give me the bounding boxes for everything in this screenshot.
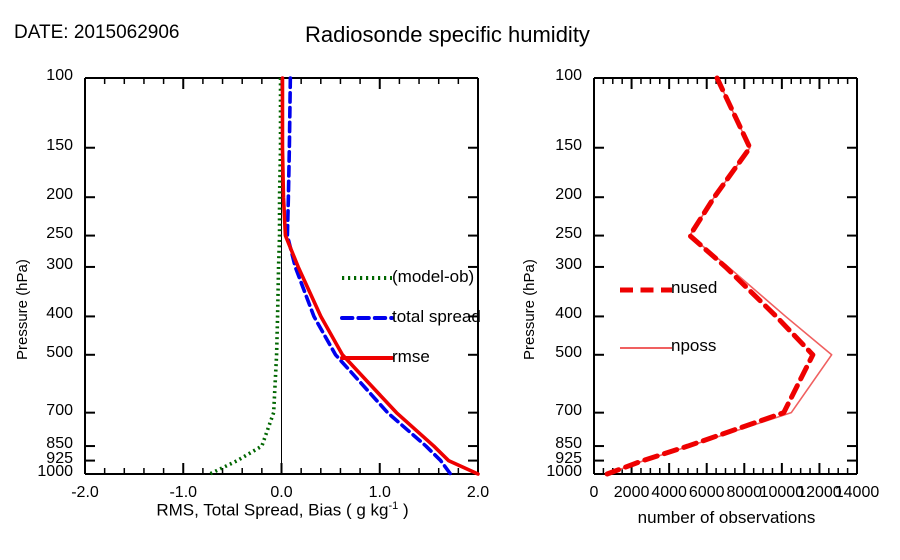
ytick-label: 300 [555,256,582,274]
ytick-label: 250 [46,225,73,243]
xtick-label: -1.0 [169,484,197,502]
legend-label: rmse [392,347,430,367]
xtick-label: 4000 [651,484,687,502]
page-title: Radiosonde specific humidity [0,22,900,48]
ytick-label: 150 [46,137,73,155]
legend-label: nposs [671,336,716,356]
legend-label: nused [671,278,717,298]
ytick-label: 400 [555,305,582,323]
series-nposs [608,78,832,474]
ytick-label: 100 [46,67,73,85]
ytick-label: 700 [46,402,73,420]
right-panel-ylabel: Pressure (hPa) [521,259,538,360]
series--model-ob- [210,78,281,474]
xtick-label: 14000 [835,484,880,502]
ytick-label: 200 [555,186,582,204]
series-nused [607,78,813,474]
ytick-label: 300 [46,256,73,274]
left-panel-xlabel: RMS, Total Spread, Bias ( g kg-1 ) [85,500,480,521]
xtick-label: 2000 [614,484,650,502]
right-panel-xlabel: number of observations [595,508,858,528]
xtick-label: 2.0 [467,484,489,502]
left-panel-ylabel: Pressure (hPa) [14,259,31,360]
ytick-label: 400 [46,305,73,323]
ytick-label: 500 [46,344,73,362]
legend-label: (model-ob) [392,267,474,287]
xtick-label: -2.0 [71,484,99,502]
ytick-label: 100 [555,67,582,85]
xtick-label: 0 [590,484,599,502]
left-xlabel-post: ) [398,501,408,520]
ytick-label: 200 [46,186,73,204]
xtick-label: 8000 [726,484,762,502]
legend-label: total spread [392,307,481,327]
ytick-label: 500 [555,344,582,362]
ytick-label: 700 [555,402,582,420]
xtick-label: 0.0 [270,484,292,502]
xtick-label: 6000 [689,484,725,502]
ytick-label: 1000 [37,463,73,481]
xtick-label: 1.0 [369,484,391,502]
ytick-label: 250 [555,225,582,243]
ytick-label: 1000 [546,463,582,481]
left-xlabel-pre: RMS, Total Spread, Bias ( g kg [156,501,388,520]
ytick-label: 150 [555,137,582,155]
